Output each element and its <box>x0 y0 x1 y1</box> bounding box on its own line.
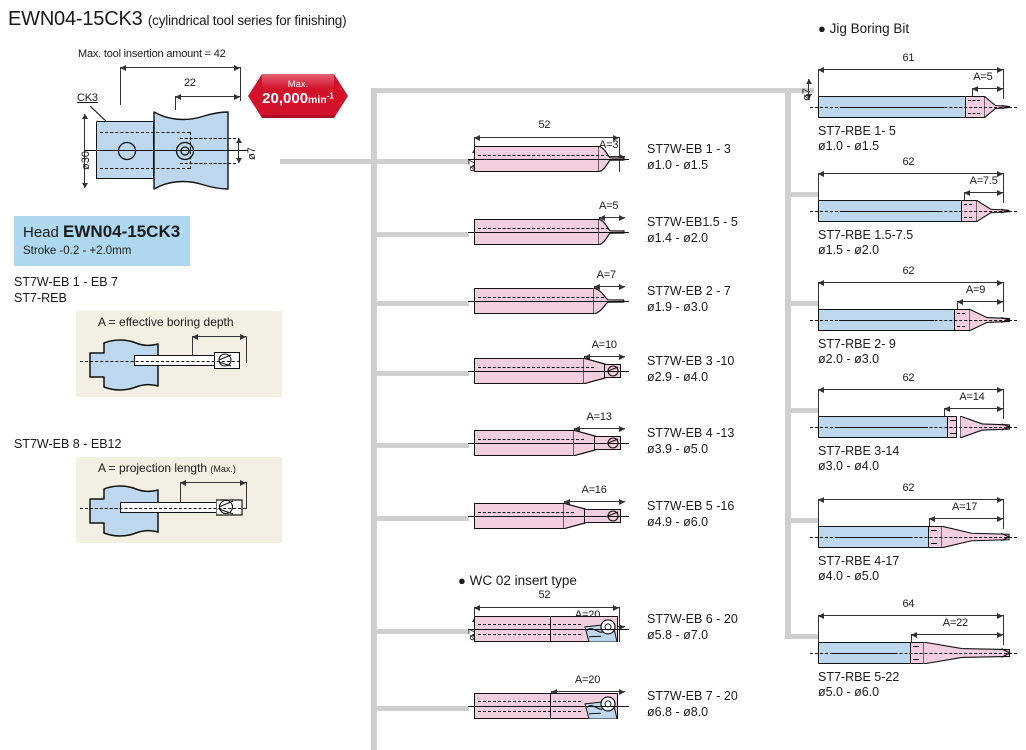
middle-tool-6-centre-line <box>468 516 629 517</box>
middle-tool-1: 52A=3ST7W-EB 1 - 3ø1.0 - ø1.5 <box>474 119 659 199</box>
middle-tool-8-bore-dash-bottom <box>478 711 581 712</box>
tree-branch-middle-2 <box>377 232 469 237</box>
tree-branch-middle-4 <box>377 371 469 376</box>
right-tool-1-shank-dimension <box>808 79 809 99</box>
wc02-section-label: WC 02 insert type <box>470 573 577 588</box>
middle-tool-8-name: ST7W-EB 7 - 20 <box>647 689 738 705</box>
wc02-bullet: ● <box>458 573 466 588</box>
right-tool-2-pocket-dash-bottom <box>964 217 972 218</box>
right-tool-5-centre-line-solid <box>835 537 913 538</box>
middle-tool-3-a-label: A=7 <box>597 269 616 281</box>
jig-boring-section-heading: ● Jig Boring Bit <box>818 21 909 36</box>
right-tool-3-pocket-dash-top <box>957 313 965 314</box>
right-tool-1-range: ø1.0 - ø1.5 <box>818 139 879 155</box>
middle-tool-8-a-dimension-line <box>551 691 625 692</box>
middle-tool-2-centre-line <box>468 232 629 233</box>
right-tool-4-centre-line-solid <box>837 427 928 428</box>
middle-tool-7-length-dimension-line <box>474 607 619 608</box>
right-tool-6-range: ø5.0 - ø6.0 <box>818 685 879 701</box>
right-tool-5-a-ext-left <box>929 518 930 526</box>
right-tool-3-name: ST7-RBE 2- 9 <box>818 337 896 353</box>
middle-tool-2-range: ø1.4 - ø2.0 <box>647 231 708 247</box>
middle-tool-2-a-dimension-line <box>599 217 625 218</box>
right-tool-5-a-dimension-line <box>929 518 1003 519</box>
right-tool-1-length-ext-right <box>1003 69 1004 99</box>
right-tool-1-pocket-dash-bottom <box>968 113 980 114</box>
right-tool-3-range: ø2.0 - ø3.0 <box>818 352 879 368</box>
middle-tool-4-centre-line <box>468 371 629 372</box>
middle-tool-3-name: ST7W-EB 2 - 7 <box>647 284 731 300</box>
right-tool-5-pocket-dash-top <box>931 530 937 531</box>
middle-tool-4-a-label: A=10 <box>592 339 617 351</box>
tree-main-trunk <box>371 88 377 750</box>
right-tool-6: 64A=22ST7-RBE 5-22ø5.0 - ø6.0 <box>818 598 1023 684</box>
right-tool-3-length-label: 62 <box>903 265 915 277</box>
right-tool-6-length-dimension-line <box>818 615 1003 616</box>
tree-branch-middle-3 <box>377 301 469 306</box>
right-tool-4-a-ext-left <box>944 408 945 416</box>
right-tool-3-length-ext-left <box>818 282 819 312</box>
right-tool-2-length-label: 62 <box>903 156 915 168</box>
tree-branch-right-2 <box>785 192 818 197</box>
middle-tool-8-a-label: A=20 <box>575 674 600 686</box>
middle-tool-1-length-label: 52 <box>539 119 551 131</box>
middle-tool-6-a-label: A=16 <box>581 484 606 496</box>
middle-tool-4: A=10ST7W-EB 3 -10ø2.9 - ø4.0 <box>474 331 659 411</box>
middle-tool-4-bore-dash <box>478 367 594 368</box>
right-tool-1-length-ext-left <box>818 69 819 99</box>
middle-tool-2: A=5ST7W-EB1.5 - 5ø1.4 - ø2.0 <box>474 192 659 272</box>
jig-boring-section-label: Jig Boring Bit <box>830 21 910 36</box>
middle-tool-8-range: ø6.8 - ø8.0 <box>647 705 708 721</box>
right-tool-4: 62A=14ST7-RBE 3-14ø3.0 - ø4.0 <box>818 372 1023 458</box>
middle-tool-1-range: ø1.0 - ø1.5 <box>647 158 708 174</box>
jig-boring-bullet: ● <box>818 21 826 36</box>
wc02-section-heading: ● WC 02 insert type <box>458 573 577 588</box>
right-tool-2-length-ext-left <box>818 173 819 203</box>
middle-tool-1-bore-dash <box>478 155 609 156</box>
tree-branch-middle-7 <box>377 629 469 634</box>
right-tool-5-length-dimension-line <box>818 499 1003 500</box>
middle-tool-7-length-label: 52 <box>539 589 551 601</box>
middle-tool-8-centre-line <box>468 706 629 707</box>
right-tool-5-range: ø4.0 - ø5.0 <box>818 569 879 585</box>
right-tool-6-centre-line-solid <box>832 653 897 654</box>
right-tool-2-name: ST7-RBE 1.5-7.5 <box>818 228 913 244</box>
right-tool-3-length-dimension-line <box>818 282 1003 283</box>
right-tool-4-pocket-dash-top <box>950 420 956 421</box>
middle-tool-3-range: ø1.9 - ø3.0 <box>647 300 708 316</box>
tree-branch-right-3 <box>785 301 818 306</box>
right-tool-6-length-ext-left <box>818 615 819 645</box>
right-tool-2-pocket-dash-top <box>964 204 972 205</box>
right-tool-6-a-ext-left <box>911 634 912 642</box>
right-tool-1-a-dimension-line <box>972 88 1003 89</box>
right-tool-3-length-ext-right <box>1003 282 1004 312</box>
right-tool-3-a-ext-left <box>957 301 958 309</box>
right-tool-5-length-ext-left <box>818 499 819 529</box>
right-tool-1-pocket-dash-top <box>968 100 980 101</box>
middle-tool-1-name: ST7W-EB 1 - 3 <box>647 142 731 158</box>
middle-tool-5-centre-line <box>468 443 629 444</box>
middle-tool-4-range: ø2.9 - ø4.0 <box>647 370 708 386</box>
right-tool-2-range: ø1.5 - ø2.0 <box>818 243 879 259</box>
right-tool-5: 62A=17ST7-RBE 4-17ø4.0 - ø5.0 <box>818 482 1023 568</box>
right-tool-2-centre-line-solid <box>840 211 941 212</box>
right-tool-6-pocket-dash-bottom <box>913 659 919 660</box>
middle-tool-5-bore-dash <box>478 439 584 440</box>
middle-tool-6-bore-dash <box>478 512 574 513</box>
right-tool-6-length-ext-right <box>1003 615 1004 645</box>
middle-tool-4-a-dimension-line <box>584 356 625 357</box>
right-tool-1-a-ext-left <box>972 88 973 96</box>
tree-head-stem <box>280 159 376 164</box>
middle-tool-2-bore-dash <box>478 228 609 229</box>
middle-tool-7-name: ST7W-EB 6 - 20 <box>647 612 738 628</box>
middle-tool-5-a-dimension-line <box>574 428 625 429</box>
right-tool-4-name: ST7-RBE 3-14 <box>818 444 899 460</box>
middle-tool-5-range: ø3.9 - ø5.0 <box>647 442 708 458</box>
right-tool-3-a-label: A=9 <box>966 284 985 296</box>
right-tool-2-length-dimension-line <box>818 173 1003 174</box>
right-tool-1-centre-line-solid <box>840 107 944 108</box>
right-tool-3-centre-line-solid <box>839 320 935 321</box>
right-tool-5-length-ext-right <box>1003 499 1004 529</box>
middle-tool-1-length-dimension-line <box>474 137 619 138</box>
middle-tool-6: A=16ST7W-EB 5 -16ø4.9 - ø6.0 <box>474 476 659 556</box>
right-tool-3: 62A=9ST7-RBE 2- 9ø2.0 - ø3.0 <box>818 265 1023 351</box>
middle-tool-5-a-label: A=13 <box>587 411 612 423</box>
tree-branch-middle-6 <box>377 516 469 521</box>
right-tool-4-length-dimension-line <box>818 389 1003 390</box>
right-tool-5-length-label: 62 <box>903 482 915 494</box>
tree-branch-middle-8 <box>377 706 469 711</box>
middle-tool-6-range: ø4.9 - ø6.0 <box>647 515 708 531</box>
right-tool-4-length-ext-left <box>818 389 819 419</box>
right-tool-5-pocket-dash-bottom <box>931 543 937 544</box>
middle-tool-2-a-label: A=5 <box>599 200 618 212</box>
right-tool-1-a-label: A=5 <box>973 71 992 83</box>
tree-branch-right-5 <box>785 518 818 523</box>
middle-tool-7-bore-dash-top <box>478 624 581 625</box>
middle-tool-8: A=20ST7W-EB 7 - 20ø6.8 - ø8.0 <box>474 666 659 746</box>
right-tool-2-a-ext-left <box>964 192 965 200</box>
tree-branch-right-6 <box>785 634 818 639</box>
middle-tool-2-name: ST7W-EB1.5 - 5 <box>647 215 738 231</box>
middle-tool-4-name: ST7W-EB 3 -10 <box>647 354 734 370</box>
right-tool-1-name: ST7-RBE 1- 5 <box>818 124 896 140</box>
right-tool-6-pocket-dash-top <box>913 646 919 647</box>
right-tool-3-a-dimension-line <box>957 301 1003 302</box>
right-tool-4-pocket-dash-bottom <box>950 433 956 434</box>
middle-tool-7: 52A=20ST7W-EB 6 - 20ø5.8 - ø7.0 <box>474 589 659 669</box>
middle-tool-5-name: ST7W-EB 4 -13 <box>647 426 734 442</box>
middle-tool-3: A=7ST7W-EB 2 - 7ø1.9 - ø3.0 <box>474 261 659 341</box>
right-tool-4-length-label: 62 <box>903 372 915 384</box>
middle-tool-7-range: ø5.8 - ø7.0 <box>647 628 708 644</box>
middle-tool-3-bore-dash <box>478 297 604 298</box>
right-tool-1-length-dimension-line <box>818 69 1003 70</box>
right-tool-5-name: ST7-RBE 4-17 <box>818 554 899 570</box>
right-tool-2-length-ext-right <box>1003 173 1004 203</box>
right-tool-6-a-dimension-line <box>911 634 1004 635</box>
tree-top-crossbar <box>371 88 790 93</box>
right-tool-1: 61A=5ST7-RBE 1- 5ø1.0 - ø1.5 <box>818 52 1023 138</box>
right-tool-2: 62A=7.5ST7-RBE 1.5-7.5ø1.5 - ø2.0 <box>818 156 1023 242</box>
right-tool-6-length-label: 64 <box>903 598 915 610</box>
right-tool-2-a-label: A=7.5 <box>970 175 998 187</box>
middle-tool-3-centre-line <box>468 301 629 302</box>
right-tool-6-name: ST7-RBE 5-22 <box>818 670 899 686</box>
tree-right-trunk <box>785 88 791 639</box>
middle-tool-6-a-dimension-line <box>564 501 625 502</box>
middle-tool-1-centre-line <box>468 159 629 160</box>
right-tool-1-length-label: 61 <box>903 52 915 64</box>
tree-branch-middle-1 <box>377 159 469 164</box>
tree-branch-middle-5 <box>377 443 469 448</box>
right-tool-4-a-dimension-line <box>944 408 1003 409</box>
middle-tool-5: A=13ST7W-EB 4 -13ø3.9 - ø5.0 <box>474 403 659 483</box>
right-tool-3-pocket-dash-bottom <box>957 326 965 327</box>
middle-tool-7-centre-line <box>468 629 629 630</box>
right-tool-6-a-label: A=22 <box>943 617 968 629</box>
right-tool-4-a-label: A=14 <box>959 391 984 403</box>
right-tool-2-a-dimension-line <box>964 192 1003 193</box>
right-tool-5-a-label: A=17 <box>952 501 977 513</box>
middle-tool-6-name: ST7W-EB 5 -16 <box>647 499 734 515</box>
middle-tool-8-bore-dash-top <box>478 701 581 702</box>
tree-branch-right-4 <box>785 408 818 413</box>
right-tool-4-range: ø3.0 - ø4.0 <box>818 459 879 475</box>
right-tool-4-length-ext-right <box>1003 389 1004 419</box>
middle-tool-7-bore-dash-bottom <box>478 634 581 635</box>
middle-tool-3-a-dimension-line <box>594 286 625 287</box>
